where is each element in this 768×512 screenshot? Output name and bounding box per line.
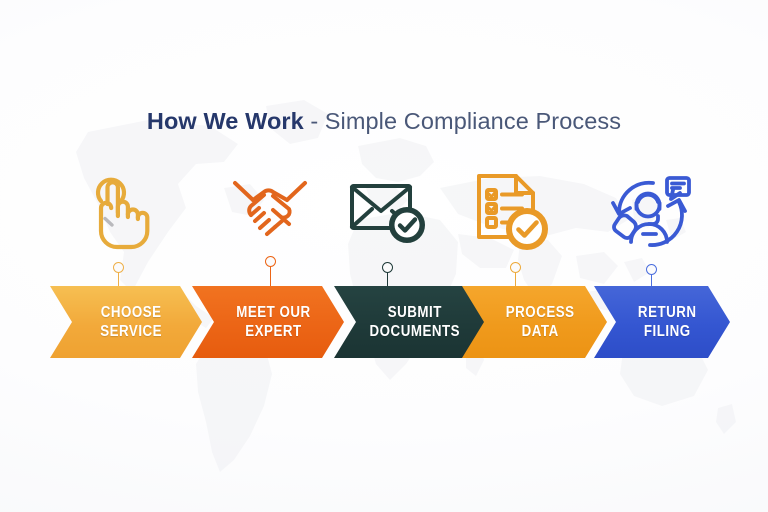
step-connector-dot-4 xyxy=(510,262,521,273)
process-step-3[interactable]: SUBMIT DOCUMENTS xyxy=(334,286,486,358)
process-step-3-label: SUBMIT DOCUMENTS xyxy=(360,303,461,341)
hand-tap-icon xyxy=(81,172,155,252)
process-step-2[interactable]: MEET OUR EXPERT xyxy=(192,286,344,358)
process-step-5-label: RETURN FILING xyxy=(628,303,697,341)
page-title-bold: How We Work xyxy=(147,108,304,134)
process-step-1-label: CHOOSE SERVICE xyxy=(90,303,162,341)
step-icon-3 xyxy=(340,164,436,260)
envelope-check-icon xyxy=(347,178,429,246)
step-connector-dot-5 xyxy=(646,264,657,275)
page-title-separator: - xyxy=(304,108,325,134)
process-step-5[interactable]: RETURN FILING xyxy=(594,286,730,358)
step-icon-1 xyxy=(70,164,166,260)
process-step-4-label: PROCESS DATA xyxy=(495,303,574,341)
step-connector-dot-1 xyxy=(113,262,124,273)
handshake-icon xyxy=(229,176,311,248)
step-connector-dot-2 xyxy=(265,256,276,267)
process-step-2-label: MEET OUR EXPERT xyxy=(226,303,311,341)
infographic-stage: How We Work - Simple Compliance Process xyxy=(0,0,768,512)
step-icon-4 xyxy=(464,164,560,260)
page-title: How We Work - Simple Compliance Process xyxy=(0,108,768,135)
document-checklist-check-icon xyxy=(472,171,552,253)
step-icon-2 xyxy=(222,164,318,260)
process-chevron-band: CHOOSE SERVICE MEET OUR EXPERT SUBMIT DO… xyxy=(0,286,768,364)
support-agent-headset-icon xyxy=(607,172,693,252)
process-step-1[interactable]: CHOOSE SERVICE xyxy=(50,286,202,358)
step-icon-5 xyxy=(602,164,698,260)
step-connector-dot-3 xyxy=(382,262,393,273)
page-title-subtitle: Simple Compliance Process xyxy=(325,108,621,134)
